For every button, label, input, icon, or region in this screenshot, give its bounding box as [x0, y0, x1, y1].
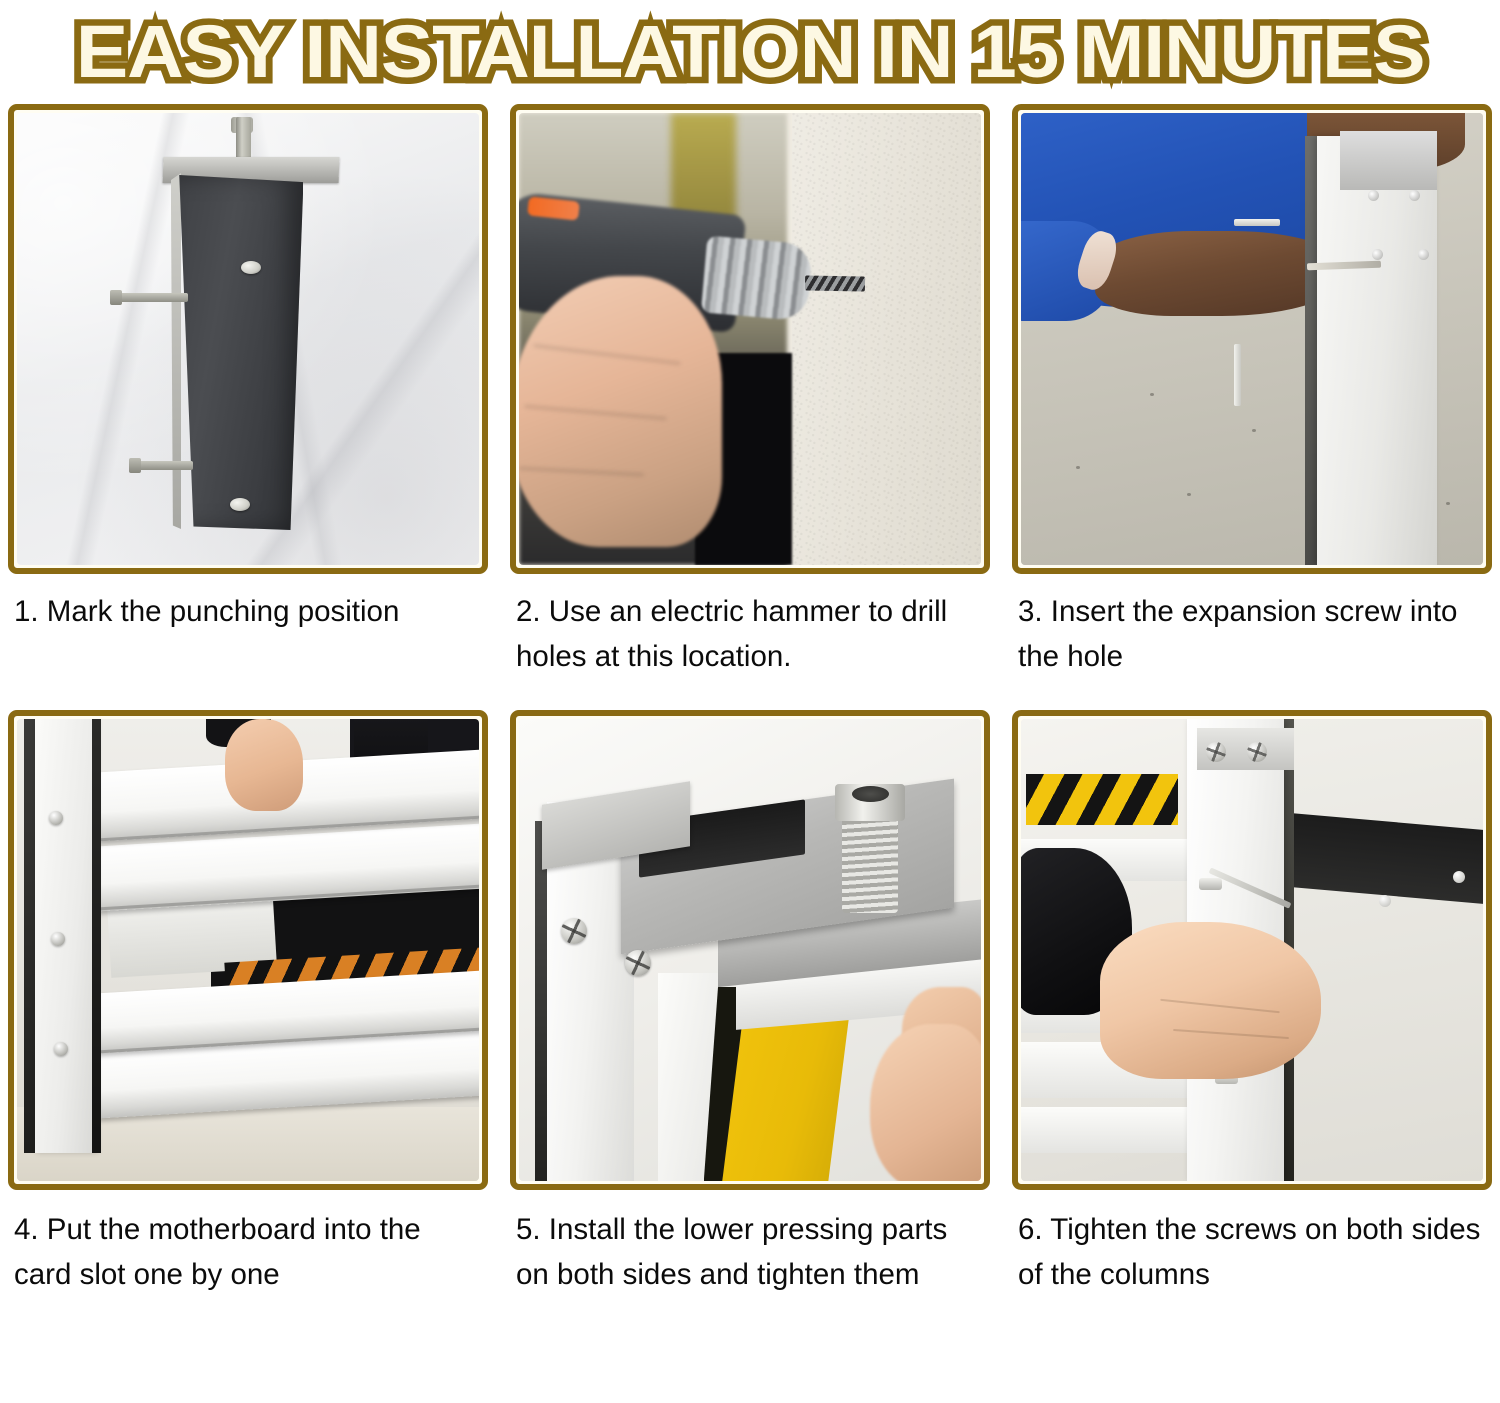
- mounting-hole-lower: [230, 498, 250, 511]
- step-photo-frame-5: [510, 710, 990, 1190]
- top-bolt-shaft: [236, 117, 251, 159]
- allen-key-arm: [1234, 219, 1280, 226]
- wall-screw: [1379, 895, 1391, 907]
- drill-bit: [805, 275, 865, 291]
- floor-fleck: [1076, 466, 1080, 469]
- bracket-screw: [1409, 190, 1420, 201]
- steps-grid-row-2: 4. Put the motherboard into the card slo…: [0, 710, 1500, 1328]
- dark-metal-post: [174, 175, 303, 530]
- post-screw: [51, 932, 65, 946]
- photo-lower-pressing-parts: [519, 719, 981, 1181]
- photo-electric-hammer-drilling: [519, 113, 981, 565]
- wall-texture: [792, 113, 981, 565]
- photo-motherboard-into-card-slot: [17, 719, 479, 1181]
- phillips-screw: [1206, 742, 1226, 762]
- page-title: EASY INSTALLATION IN 15 MINUTES: [76, 15, 1425, 89]
- drill-chuck: [701, 235, 814, 321]
- stud-upper: [114, 293, 188, 302]
- card-slot-gap: [92, 719, 101, 1153]
- floor-fleck: [1187, 493, 1191, 496]
- bracket-screw: [1372, 249, 1383, 260]
- step-caption-5: 5. Install the lower pressing parts on b…: [510, 1190, 990, 1328]
- barrier-board: [1021, 1107, 1187, 1153]
- step-photo-frame-4: [8, 710, 488, 1190]
- floor-fleck: [1446, 502, 1450, 505]
- phillips-screw: [625, 950, 651, 976]
- bracket-screw: [1368, 190, 1379, 201]
- step-card-6: 6. Tighten the screws on both sides of t…: [1012, 710, 1492, 1328]
- step-caption-3: 3. Insert the expansion screw into the h…: [1012, 574, 1492, 710]
- operator-hand: [225, 719, 304, 811]
- step-card-4: 4. Put the motherboard into the card slo…: [8, 710, 488, 1328]
- phillips-screw: [561, 918, 587, 944]
- post-top-bracket: [1340, 131, 1437, 190]
- step-card-2: 2. Use an electric hammer to drill holes…: [510, 104, 990, 710]
- step-photo-frame-2: [510, 104, 990, 574]
- photo-tighten-screws: [1021, 719, 1483, 1181]
- step-caption-2: 2. Use an electric hammer to drill holes…: [510, 574, 990, 710]
- allen-wrench-head: [1199, 878, 1222, 890]
- white-column-post: [35, 719, 95, 1153]
- wall-screw: [1453, 871, 1465, 883]
- step-photo-frame-6: [1012, 710, 1492, 1190]
- step-caption-1: 1. Mark the punching position: [8, 574, 488, 710]
- photo-insert-expansion-screw: [1021, 113, 1483, 565]
- stud-cap-lower: [129, 458, 141, 473]
- step-card-1: 1. Mark the punching position: [8, 104, 488, 710]
- stud-cap-upper: [110, 290, 122, 305]
- step-card-3: 3. Insert the expansion screw into the h…: [1012, 104, 1492, 710]
- operator-hand: [1100, 922, 1322, 1079]
- step-photo-frame-1: [8, 104, 488, 574]
- wall-right: [1280, 719, 1483, 1181]
- operator-hand: [870, 1024, 981, 1181]
- step-caption-4: 4. Put the motherboard into the card slo…: [8, 1190, 488, 1328]
- mounting-hole-upper: [241, 261, 261, 274]
- steps-grid-row-1: 1. Mark the punching position 2. Use an …: [0, 104, 1500, 710]
- photo-mark-punching-position: [17, 113, 479, 565]
- hazard-stripe-band: [1026, 774, 1178, 825]
- step-photo-frame-3: [1012, 104, 1492, 574]
- white-column-post: [1317, 136, 1437, 565]
- step-card-5: 5. Install the lower pressing parts on b…: [510, 710, 990, 1328]
- allen-key-shaft: [1234, 344, 1241, 406]
- bolt-bore: [852, 786, 889, 802]
- stud-lower: [133, 461, 193, 470]
- bracket-screw: [1418, 249, 1429, 260]
- step-caption-6: 6. Tighten the screws on both sides of t…: [1012, 1190, 1492, 1328]
- operator-hand: [519, 276, 722, 547]
- banner-title-bar: EASY INSTALLATION IN 15 MINUTES: [0, 0, 1500, 104]
